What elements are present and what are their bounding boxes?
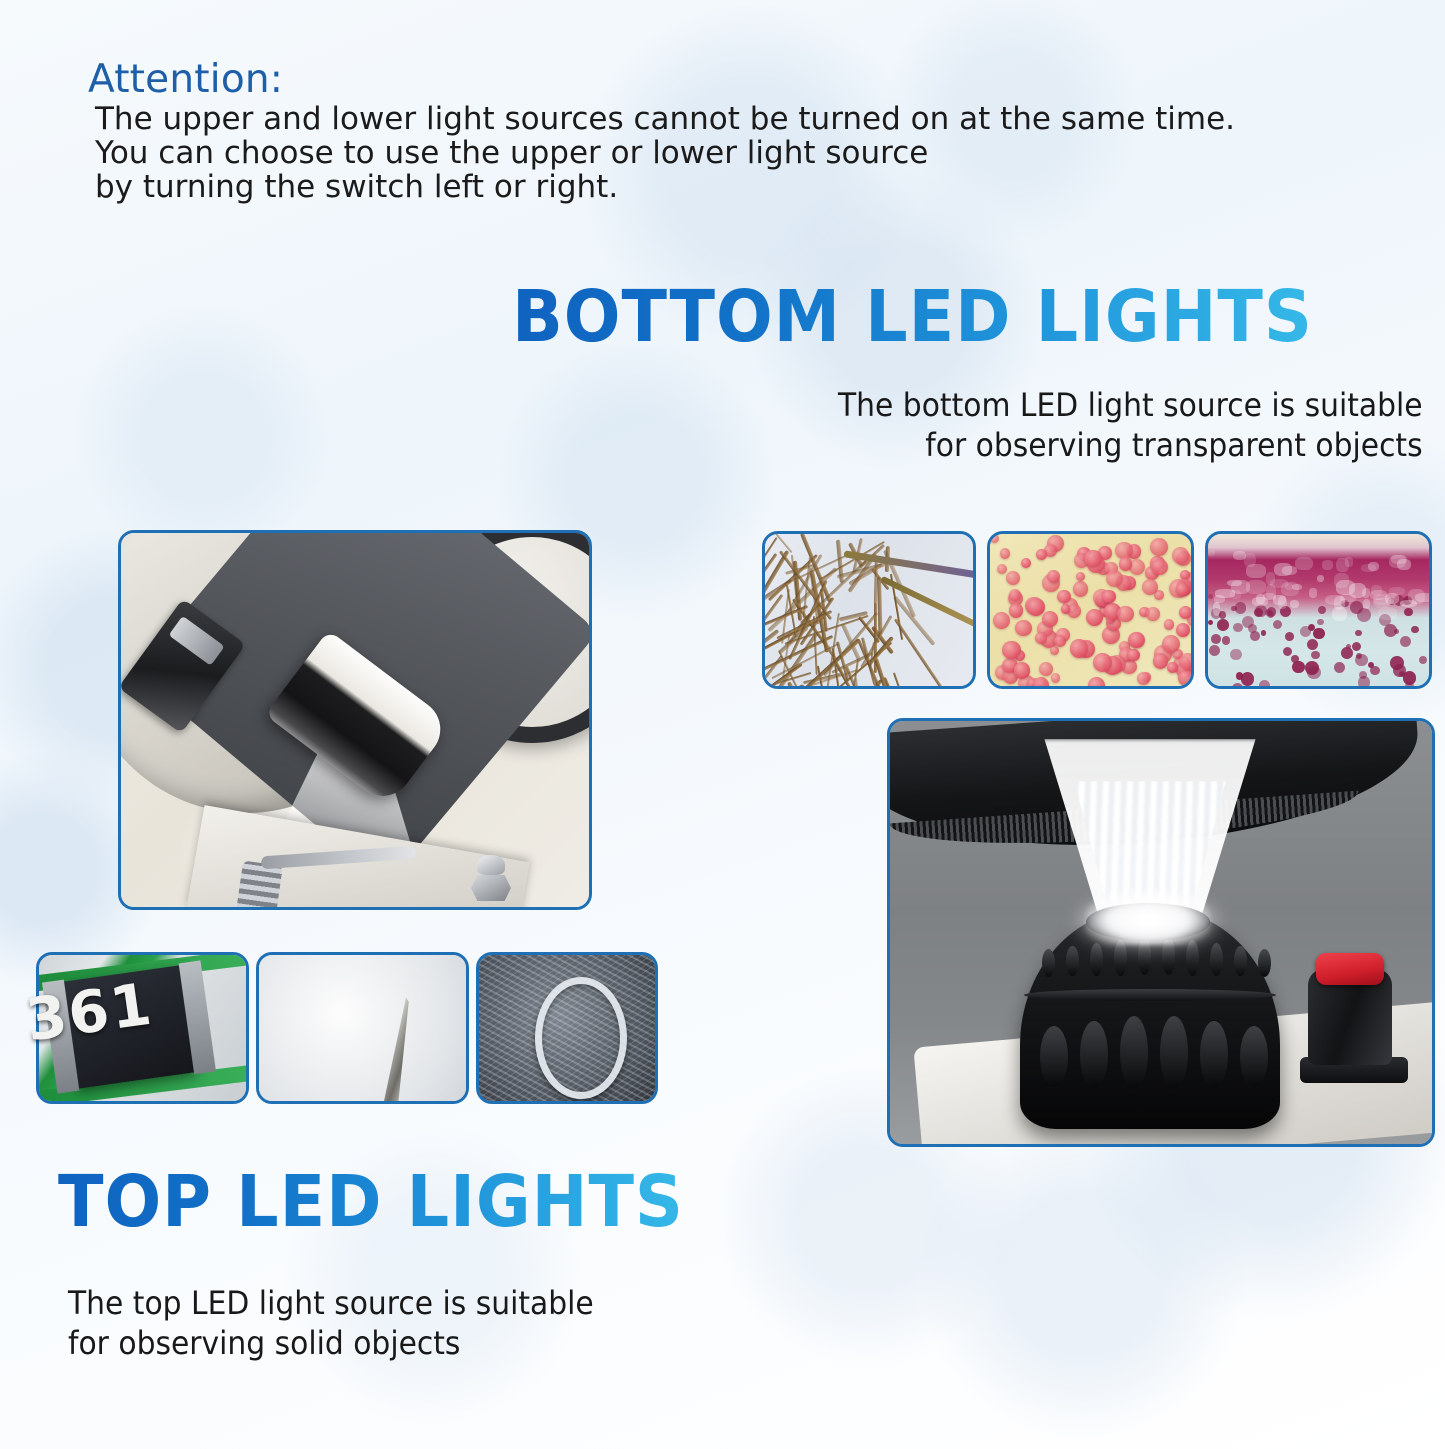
specimen-1-content bbox=[765, 534, 973, 686]
top-led-description-line-2: for observing solid objects bbox=[68, 1323, 594, 1363]
attention-line-3: by turning the switch left or right. bbox=[95, 170, 1388, 204]
coin-content bbox=[479, 955, 655, 1101]
bottom-led-description-line-1: The bottom LED light source is suitable bbox=[838, 385, 1423, 425]
attention-title: Attention: bbox=[88, 58, 1388, 102]
photo-top-led-content bbox=[121, 533, 589, 907]
bottom-led-headline: BOTTOM LED LIGHTS bbox=[512, 277, 1313, 357]
bottom-led-description-line-2: for observing transparent objects bbox=[838, 425, 1423, 465]
led-hotspot-glow bbox=[1086, 889, 1210, 945]
bristle-cluster bbox=[765, 534, 973, 686]
photo-top-led-microscope bbox=[118, 530, 592, 910]
specimen-2-content bbox=[990, 534, 1191, 686]
led-dome-ridge bbox=[1024, 989, 1276, 1001]
photo-specimen-blood-cells bbox=[987, 531, 1194, 689]
top-led-headline: TOP LED LIGHTS bbox=[58, 1162, 684, 1242]
photo-sample-coin-surface bbox=[476, 952, 658, 1104]
photo-bottom-led-illuminator bbox=[887, 718, 1435, 1147]
photo-bottom-led-content bbox=[890, 721, 1432, 1144]
photo-sample-needle-tip bbox=[256, 952, 469, 1104]
photo-sample-smd-resistor bbox=[36, 952, 249, 1104]
attention-line-2: You can choose to use the upper or lower… bbox=[95, 136, 1388, 170]
attention-line-1: The upper and lower light sources cannot… bbox=[95, 102, 1388, 136]
photo-specimen-plant-section bbox=[1205, 531, 1432, 689]
blood-cell-cluster bbox=[990, 534, 1191, 686]
bottom-led-description: The bottom LED light source is suitable … bbox=[838, 385, 1423, 465]
resistor-content bbox=[39, 955, 246, 1101]
specimen-3-content bbox=[1208, 534, 1429, 686]
top-led-description-line-1: The top LED light source is suitable bbox=[68, 1283, 594, 1323]
top-led-description: The top LED light source is suitable for… bbox=[68, 1283, 594, 1363]
infographic-page: Attention: The upper and lower light sou… bbox=[0, 0, 1445, 1449]
coin-embossed-zero bbox=[535, 977, 627, 1099]
needle-content bbox=[259, 955, 466, 1101]
photo-specimen-insect-bristles bbox=[762, 531, 976, 689]
needle-background bbox=[259, 955, 466, 1101]
plant-cell-texture bbox=[1208, 534, 1429, 686]
stage-screw bbox=[471, 855, 511, 907]
resistor-chip bbox=[62, 965, 196, 1089]
attention-block: Attention: The upper and lower light sou… bbox=[88, 58, 1388, 204]
